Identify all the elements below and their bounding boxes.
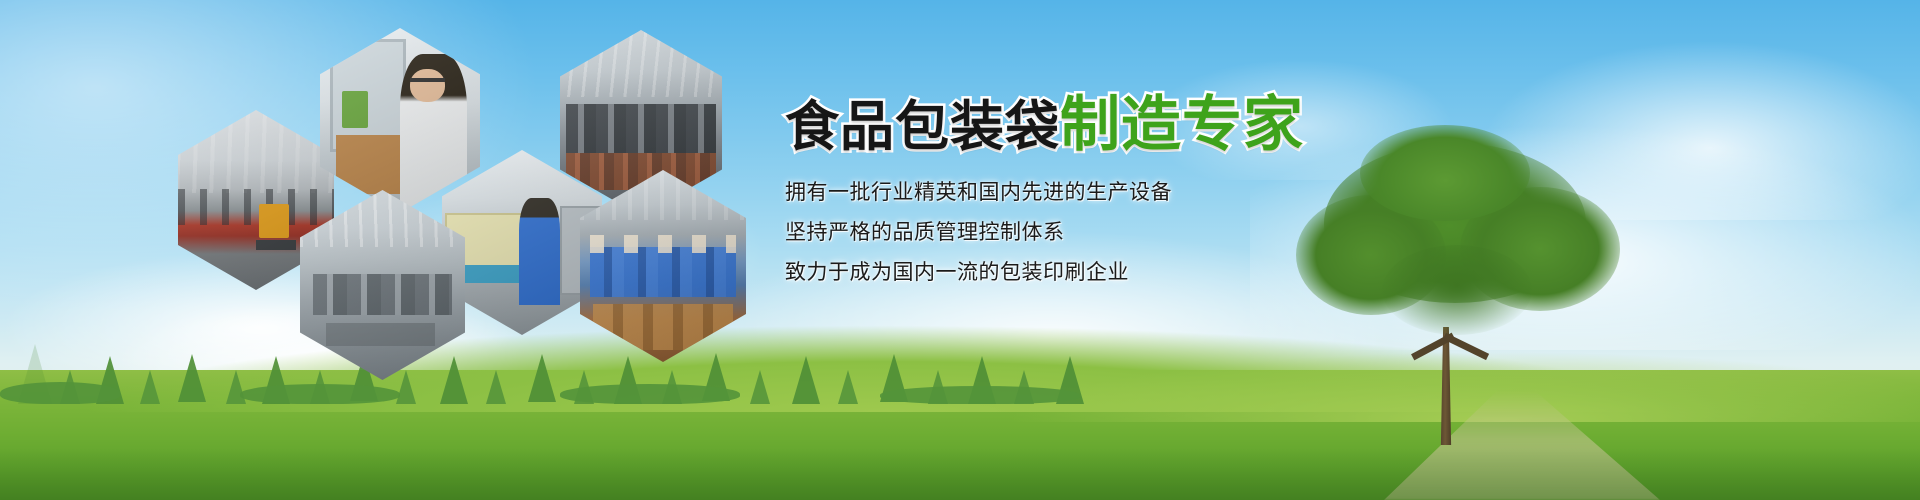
headline-black-part: 食品包装袋 — [785, 95, 1060, 158]
headline: 食品包装袋制造专家 — [785, 96, 1585, 156]
subtitle-line-1: 拥有一批行业精英和国内先进的生产设备 — [785, 182, 1585, 203]
subtitle-line-2: 坚持严格的品质管理控制体系 — [785, 222, 1585, 243]
hex-photo-packing-line-workers — [580, 170, 746, 362]
hero-banner: 食品包装袋制造专家 拥有一批行业精英和国内先进的生产设备 坚持严格的品质管理控制… — [0, 0, 1920, 500]
grass-shadow — [0, 448, 1920, 500]
banner-copy: 食品包装袋制造专家 拥有一批行业精英和国内先进的生产设备 坚持严格的品质管理控制… — [785, 96, 1585, 302]
subtitle-list: 拥有一批行业精英和国内先进的生产设备 坚持严格的品质管理控制体系 致力于成为国内… — [785, 182, 1585, 283]
subtitle-line-3: 致力于成为国内一流的包装印刷企业 — [785, 262, 1585, 283]
hex-photo-lab-technician-inspecting — [320, 28, 480, 213]
headline-green-part: 制造专家 — [1060, 90, 1304, 160]
hex-photo-cluster — [160, 10, 780, 370]
